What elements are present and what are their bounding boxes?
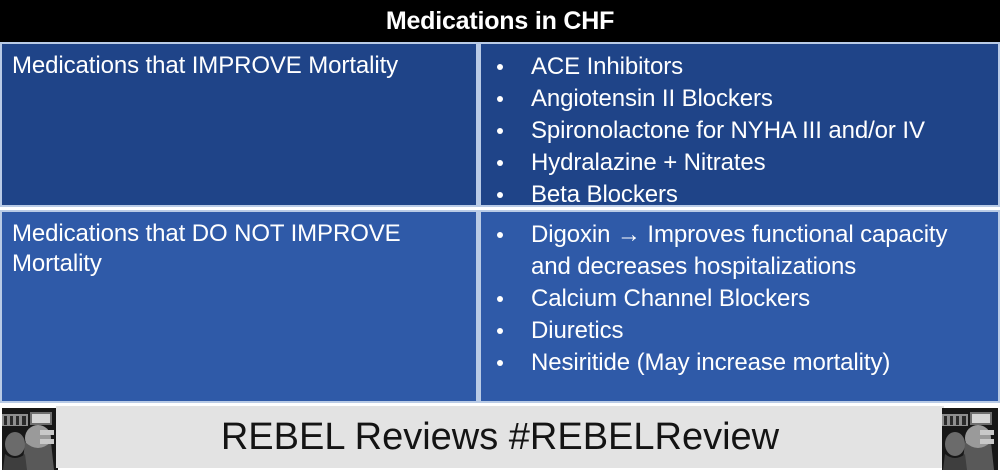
list-item-text: Digoxin → Improves functional capacity a… <box>531 221 947 280</box>
page-title: Medications in CHF <box>386 9 614 34</box>
list-item-text: Hydralazine + Nitrates <box>531 149 766 176</box>
slide-footer: REBEL Reviews #REBELReview <box>0 406 1000 472</box>
list-item: Spironolactone for NYHA III and/or IV <box>491 115 992 147</box>
list-item-text: Diuretics <box>531 317 623 344</box>
row-2-bullet-list: Digoxin → Improves functional capacity a… <box>491 219 992 379</box>
row-2-category-label: Medications that DO NOT IMPROVE Mortalit… <box>12 219 470 279</box>
bullet-dot-icon <box>497 296 503 302</box>
bullet-dot-icon <box>497 232 503 238</box>
list-item-text: ACE Inhibitors <box>531 53 683 80</box>
row-1-bullet-list: ACE Inhibitors Angiotensin II Blockers S… <box>491 51 992 207</box>
bullet-dot-icon <box>497 64 503 70</box>
list-item: Beta Blockers <box>491 179 992 207</box>
bullet-dot-icon <box>497 160 503 166</box>
footer-bar: REBEL Reviews #REBELReview <box>56 406 944 468</box>
bullet-dot-icon <box>497 328 503 334</box>
row-1-category-label: Medications that IMPROVE Mortality <box>12 51 470 81</box>
list-item: Nesiritide (May increase mortality) <box>491 347 992 379</box>
list-item-text: Spironolactone for NYHA III and/or IV <box>531 117 925 144</box>
medications-table: Medications that IMPROVE Mortality ACE I… <box>0 42 1000 403</box>
list-item-text: Beta Blockers <box>531 181 678 207</box>
footer-text: REBEL Reviews #REBELReview <box>221 418 779 456</box>
slide-title-bar: Medications in CHF <box>0 0 1000 42</box>
list-item-text: Nesiritide (May increase mortality) <box>531 349 890 376</box>
row-1-medications-cell: ACE Inhibitors Angiotensin II Blockers S… <box>478 42 1000 207</box>
list-item-text: Angiotensin II Blockers <box>531 85 773 112</box>
row-2-medications-cell: Digoxin → Improves functional capacity a… <box>478 210 1000 403</box>
list-item: Angiotensin II Blockers <box>491 83 992 115</box>
bullet-dot-icon <box>497 360 503 366</box>
list-item-text: Calcium Channel Blockers <box>531 285 810 312</box>
table-row: Medications that IMPROVE Mortality ACE I… <box>0 42 1000 210</box>
table-row: Medications that DO NOT IMPROVE Mortalit… <box>0 210 1000 403</box>
slide-root: Medications in CHF Medications that IMPR… <box>0 0 1000 474</box>
bullet-dot-icon <box>497 128 503 134</box>
row-1-category-cell: Medications that IMPROVE Mortality <box>0 42 478 207</box>
rebel-em-logo-right-icon <box>942 408 998 470</box>
list-item: Hydralazine + Nitrates <box>491 147 992 179</box>
bullet-dot-icon <box>497 96 503 102</box>
bullet-dot-icon <box>497 192 503 198</box>
list-item: Diuretics <box>491 315 992 347</box>
list-item: ACE Inhibitors <box>491 51 992 83</box>
row-2-category-cell: Medications that DO NOT IMPROVE Mortalit… <box>0 210 478 403</box>
rebel-em-logo-left-icon <box>2 408 58 470</box>
list-item: Digoxin → Improves functional capacity a… <box>491 219 992 283</box>
list-item: Calcium Channel Blockers <box>491 283 992 315</box>
